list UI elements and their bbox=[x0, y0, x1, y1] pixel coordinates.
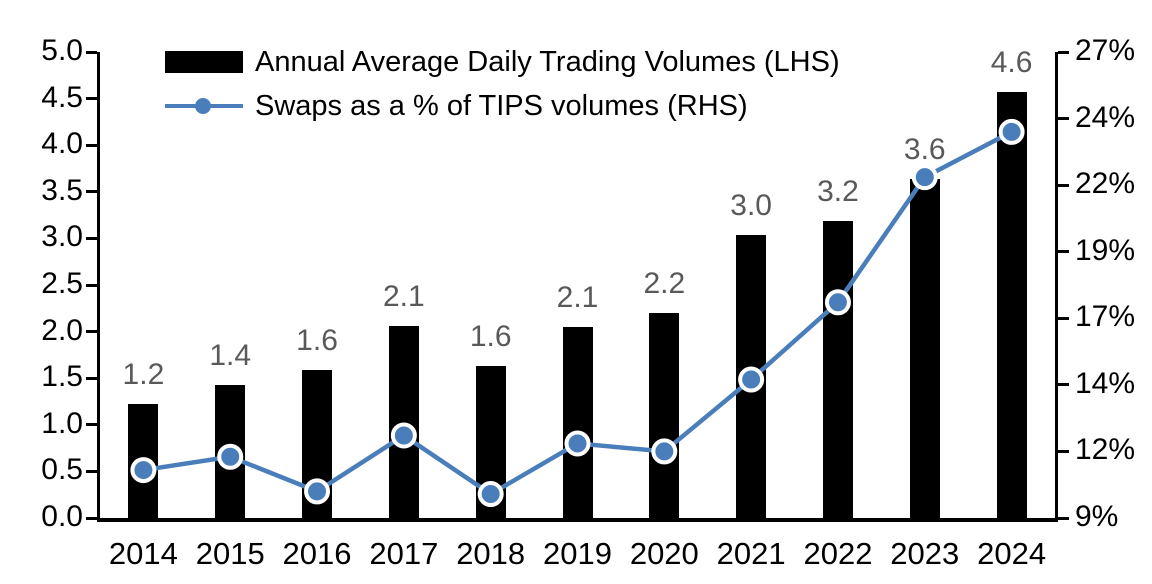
left-axis-tick bbox=[86, 470, 97, 473]
bar-swatch-icon bbox=[163, 47, 245, 77]
x-axis-tick-label: 2021 bbox=[717, 538, 786, 569]
left-axis-tick bbox=[86, 377, 97, 380]
line-marker bbox=[393, 424, 415, 446]
x-axis-tick-label: 2017 bbox=[369, 538, 438, 569]
right-axis-tick bbox=[1058, 51, 1069, 54]
chart-container: 0.00.51.01.52.02.53.03.54.04.55.0 9%12%1… bbox=[0, 0, 1152, 584]
line-marker bbox=[740, 369, 762, 391]
right-axis-tick-label: 17% bbox=[1075, 302, 1135, 332]
line-marker bbox=[567, 432, 589, 454]
right-axis-tick-label: 24% bbox=[1075, 103, 1135, 133]
right-axis-tick bbox=[1058, 383, 1069, 386]
x-axis-tick-label: 2020 bbox=[630, 538, 699, 569]
right-axis-tick-label: 12% bbox=[1075, 435, 1135, 465]
left-axis-tick-label: 2.5 bbox=[41, 269, 83, 299]
legend-item-bar: Annual Average Daily Trading Volumes (LH… bbox=[163, 40, 883, 84]
line-marker bbox=[480, 483, 502, 505]
left-axis-tick-label: 3.0 bbox=[41, 222, 83, 252]
x-axis-tick-label: 2022 bbox=[803, 538, 872, 569]
right-axis-tick bbox=[1058, 517, 1069, 520]
left-axis-tick bbox=[86, 190, 97, 193]
left-axis-tick-label: 1.5 bbox=[41, 362, 83, 392]
right-axis-tick-label: 22% bbox=[1075, 169, 1135, 199]
left-axis-tick-label: 1.0 bbox=[41, 409, 83, 439]
right-axis-tick-label: 27% bbox=[1075, 36, 1135, 66]
x-axis-tick-label: 2024 bbox=[977, 538, 1046, 569]
left-axis-tick bbox=[86, 97, 97, 100]
right-axis-tick-label: 19% bbox=[1075, 236, 1135, 266]
x-axis-tick-label: 2015 bbox=[196, 538, 265, 569]
right-axis-tick bbox=[1058, 450, 1069, 453]
left-axis-tick bbox=[86, 423, 97, 426]
x-axis-tick-label: 2019 bbox=[543, 538, 612, 569]
right-axis-tick bbox=[1058, 250, 1069, 253]
legend-label-line: Swaps as a % of TIPS volumes (RHS) bbox=[255, 92, 748, 121]
left-axis-tick bbox=[86, 51, 97, 54]
line-marker bbox=[132, 459, 154, 481]
legend-item-line: Swaps as a % of TIPS volumes (RHS) bbox=[163, 84, 883, 128]
left-axis-tick-label: 5.0 bbox=[41, 36, 83, 66]
left-axis-tick bbox=[86, 237, 97, 240]
line-marker bbox=[827, 291, 849, 313]
x-axis-tick-label: 2018 bbox=[456, 538, 525, 569]
x-axis-tick-label: 2016 bbox=[283, 538, 352, 569]
line-marker bbox=[653, 440, 675, 462]
x-axis-labels: 2014201520162017201820192020202120222023… bbox=[100, 532, 1055, 576]
line-marker bbox=[219, 446, 241, 468]
left-axis-tick-label: 2.0 bbox=[41, 316, 83, 346]
chart-legend: Annual Average Daily Trading Volumes (LH… bbox=[163, 40, 883, 128]
left-axis-tick-label: 0.0 bbox=[41, 502, 83, 532]
right-axis-tick bbox=[1058, 184, 1069, 187]
legend-label-bar: Annual Average Daily Trading Volumes (LH… bbox=[255, 48, 840, 77]
right-axis-tick bbox=[1058, 317, 1069, 320]
left-axis-tick bbox=[86, 284, 97, 287]
left-axis-tick bbox=[86, 330, 97, 333]
left-axis-tick bbox=[86, 144, 97, 147]
line-marker bbox=[306, 480, 328, 502]
left-axis-tick-label: 3.5 bbox=[41, 176, 83, 206]
left-axis-tick-label: 4.0 bbox=[41, 129, 83, 159]
x-axis-tick-label: 2023 bbox=[890, 538, 959, 569]
line-marker bbox=[914, 166, 936, 188]
x-axis-tick-label: 2014 bbox=[109, 538, 178, 569]
line-marker bbox=[1001, 121, 1023, 143]
right-axis-tick-label: 9% bbox=[1075, 502, 1118, 532]
left-axis-tick bbox=[86, 517, 97, 520]
x-axis-line bbox=[97, 518, 1058, 522]
right-axis-tick-label: 14% bbox=[1075, 369, 1135, 399]
line-swatch-icon bbox=[163, 91, 245, 121]
right-axis-tick bbox=[1058, 117, 1069, 120]
left-axis-tick-label: 4.5 bbox=[41, 83, 83, 113]
left-axis-tick-label: 0.5 bbox=[41, 455, 83, 485]
